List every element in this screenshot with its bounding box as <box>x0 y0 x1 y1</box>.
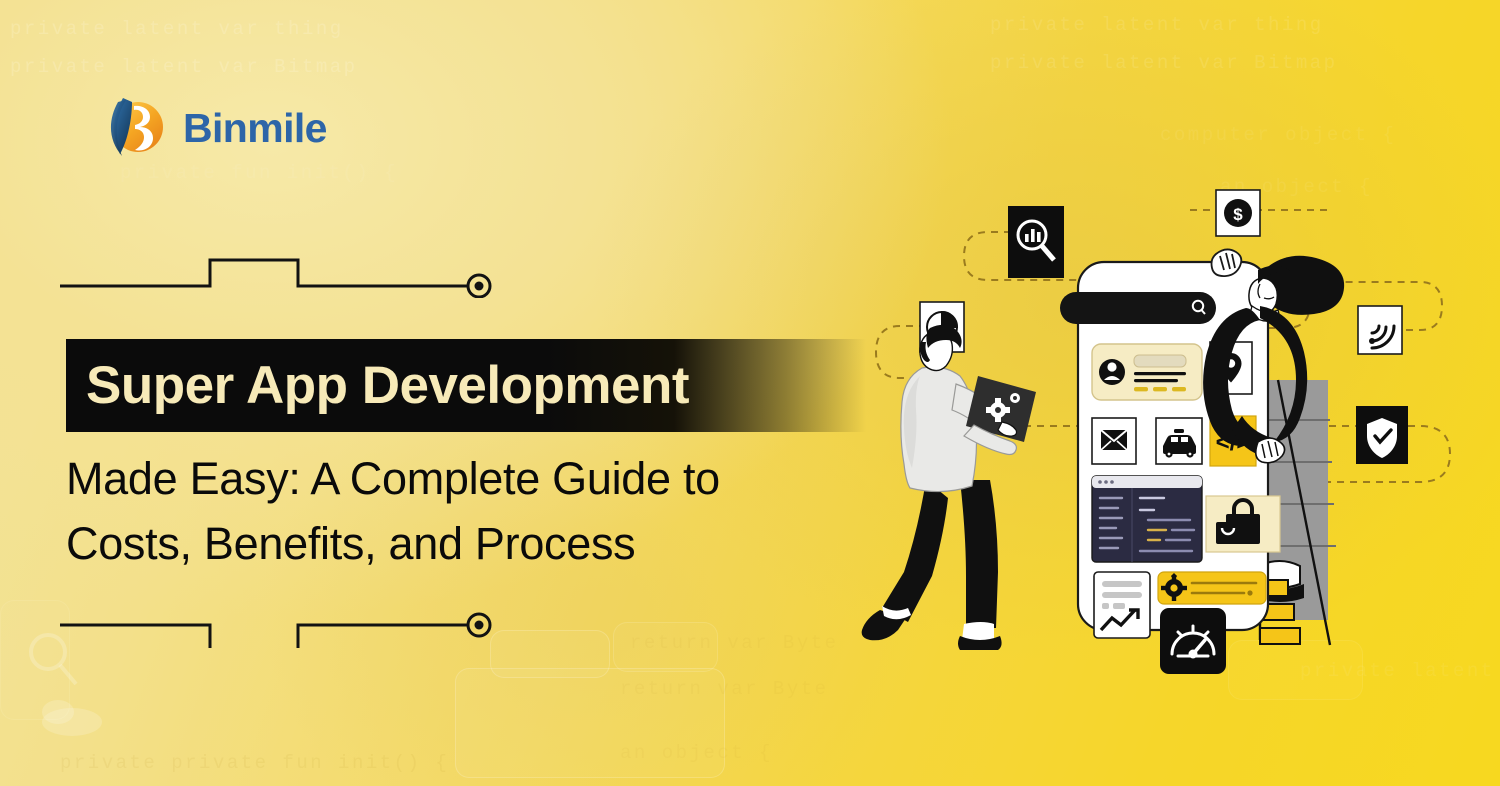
mail-tile[interactable] <box>1092 418 1136 464</box>
search-bar[interactable] <box>1060 292 1216 324</box>
brand-logo[interactable]: Binmile <box>98 92 327 164</box>
man-with-tablet <box>862 325 1036 650</box>
rss-signal-tile[interactable] <box>1358 306 1402 354</box>
page-title: Super App Development <box>66 355 689 416</box>
code-editor-window[interactable] <box>1092 476 1202 562</box>
super-app-illustration: </> <box>860 180 1500 680</box>
taxi-tile[interactable] <box>1156 418 1202 464</box>
analytics-card[interactable] <box>1094 572 1150 638</box>
subtitle-line-1: Made Easy: A Complete Guide to <box>66 446 896 511</box>
headline-banner: Super App Development <box>66 339 866 432</box>
seo-search-tile[interactable] <box>1008 206 1064 278</box>
security-tile[interactable] <box>1356 406 1408 464</box>
page-subtitle: Made Easy: A Complete Guide to Costs, Be… <box>66 446 896 577</box>
circuit-trace-bottom <box>60 598 500 648</box>
money-tile[interactable]: $ <box>1216 190 1260 236</box>
svg-text:$: $ <box>1233 205 1243 224</box>
ghost-shape-3 <box>613 622 718 672</box>
settings-slider-tile[interactable] <box>1158 572 1266 604</box>
performance-tile[interactable] <box>1160 608 1226 674</box>
hand-grab-icon <box>1212 249 1242 276</box>
ghost-shape-2 <box>455 668 725 778</box>
binmile-logo-mark-icon <box>98 92 170 164</box>
envelope-icon <box>1101 430 1127 450</box>
brand-name: Binmile <box>183 105 327 152</box>
subtitle-line-2: Costs, Benefits, and Process <box>66 511 896 576</box>
hero-banner: private latent var thing private latent … <box>0 0 1500 786</box>
profile-card-tile[interactable] <box>1092 344 1202 400</box>
circuit-trace-top <box>60 248 500 298</box>
shopping-tile[interactable] <box>1206 496 1280 552</box>
